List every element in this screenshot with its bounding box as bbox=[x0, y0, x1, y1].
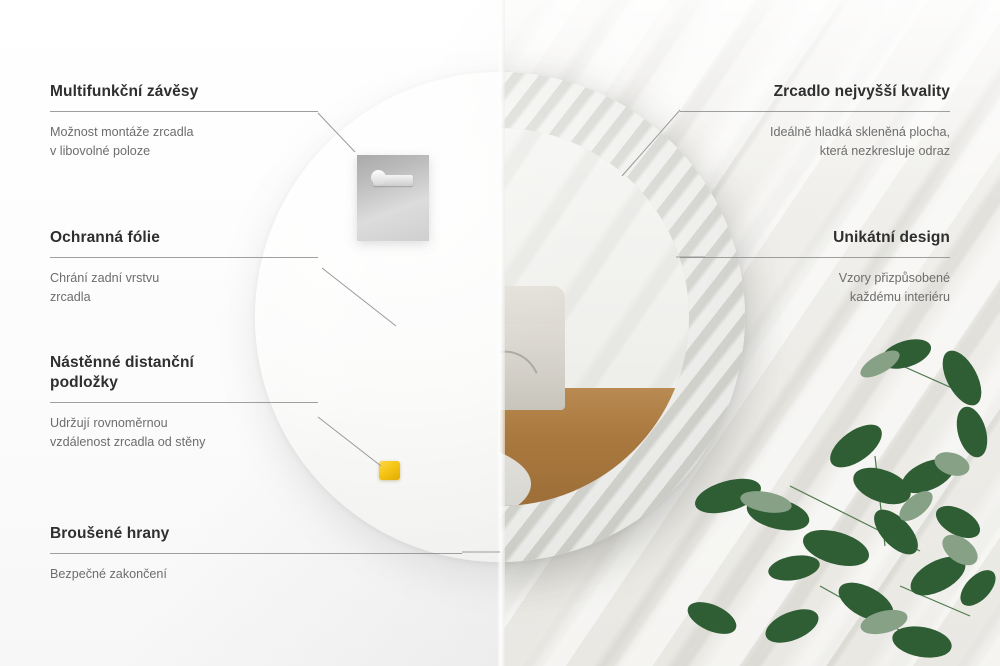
keyhole-slot-icon bbox=[373, 175, 413, 186]
callout-ochranna-folie: Ochranná fólie Chrání zadní vrstvuzrcadl… bbox=[50, 228, 318, 307]
callout-description: Udržují rovnoměrnouvzdálenost zrcadla od… bbox=[50, 414, 318, 452]
callout-nastenne-distancni-podlozky: Nástěnné distančnípodložky Udržují rovno… bbox=[50, 353, 318, 452]
callout-title: Ochranná fólie bbox=[50, 228, 318, 248]
callout-description: Možnost montáže zrcadlav libovolné poloz… bbox=[50, 123, 318, 161]
callout-rule bbox=[680, 257, 950, 258]
callout-description: Bezpečné zakončení bbox=[50, 565, 462, 584]
callout-rule bbox=[50, 402, 318, 403]
callout-rule bbox=[50, 111, 318, 112]
callout-description: Vzory přizpůsobenékaždému interiéru bbox=[680, 269, 950, 307]
infographic-canvas: Multifunkční závěsy Možnost montáže zrca… bbox=[0, 0, 1000, 666]
mirror-glass-reflection bbox=[500, 128, 689, 506]
callout-rule bbox=[50, 257, 318, 258]
callout-title: Nástěnné distančnípodložky bbox=[50, 353, 318, 393]
callout-title: Unikátní design bbox=[680, 228, 950, 248]
callout-brousene-hrany: Broušené hrany Bezpečné zakončení bbox=[50, 524, 462, 584]
callout-rule bbox=[50, 553, 462, 554]
callout-unikatni-design: Unikátní design Vzory přizpůsobenékaždém… bbox=[680, 228, 950, 307]
callout-title: Multifunkční závěsy bbox=[50, 82, 318, 102]
callout-rule bbox=[680, 111, 950, 112]
distance-pad-marker-icon bbox=[379, 461, 400, 480]
callout-description: Chrání zadní vrstvuzrcadla bbox=[50, 269, 318, 307]
panel-seam bbox=[497, 0, 505, 666]
callout-zrcadlo-nejvyssi-kvality: Zrcadlo nejvyšší kvality Ideálně hladká … bbox=[680, 82, 950, 161]
wall-hanger-bracket-icon bbox=[357, 155, 429, 241]
callout-description: Ideálně hladká skleněná plocha,která nez… bbox=[680, 123, 950, 161]
callout-multifunkcni-zavesy: Multifunkční závěsy Možnost montáže zrca… bbox=[50, 82, 318, 161]
callout-title: Broušené hrany bbox=[50, 524, 462, 544]
callout-title: Zrcadlo nejvyšší kvality bbox=[680, 82, 950, 102]
